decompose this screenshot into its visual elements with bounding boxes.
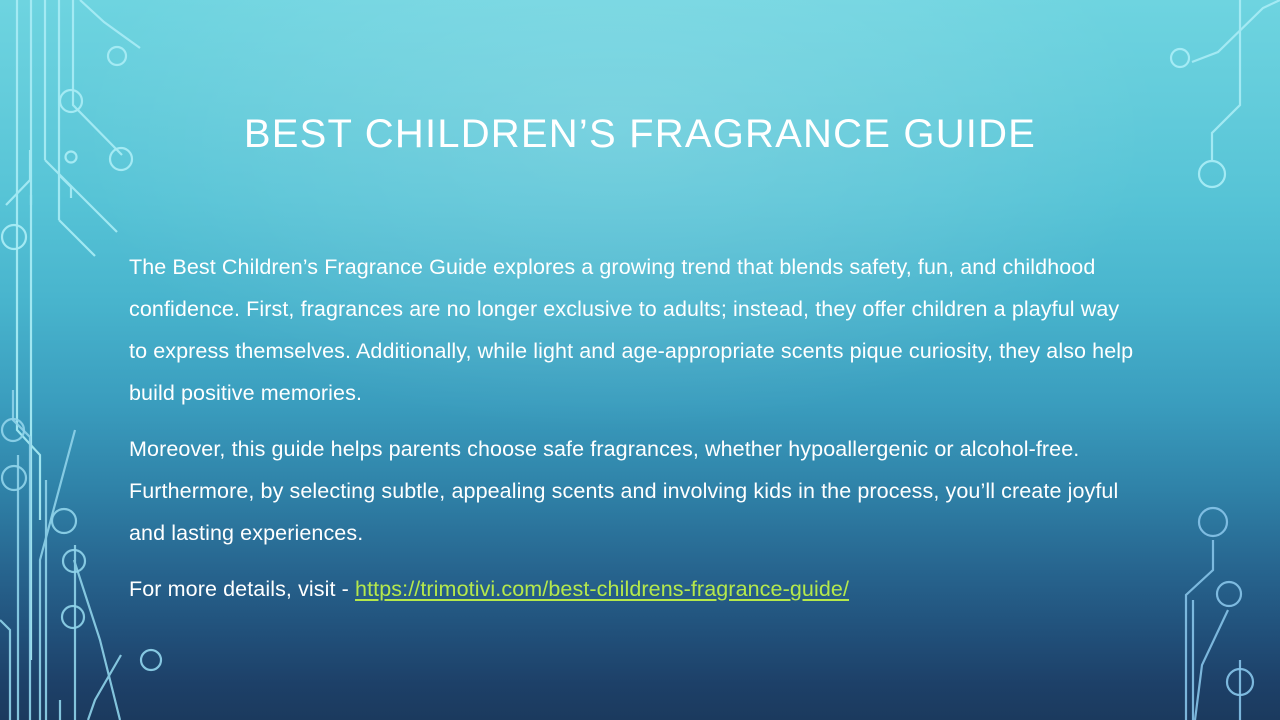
paragraph-1: The Best Children’s Fragrance Guide expl… — [129, 246, 1143, 414]
paragraph-2: Moreover, this guide helps parents choos… — [129, 428, 1143, 554]
slide-content: Best Children’s Fragrance Guide The Best… — [0, 0, 1280, 720]
cta-prefix-text: For more details, visit - — [129, 577, 355, 601]
page-title: Best Children’s Fragrance Guide — [160, 112, 1120, 157]
body-text-block: The Best Children’s Fragrance Guide expl… — [129, 246, 1143, 610]
article-link[interactable]: https://trimotivi.com/best-childrens-fra… — [355, 577, 849, 601]
call-to-action-line: For more details, visit - https://trimot… — [129, 568, 1143, 610]
slide-canvas: Best Children’s Fragrance Guide The Best… — [0, 0, 1280, 720]
